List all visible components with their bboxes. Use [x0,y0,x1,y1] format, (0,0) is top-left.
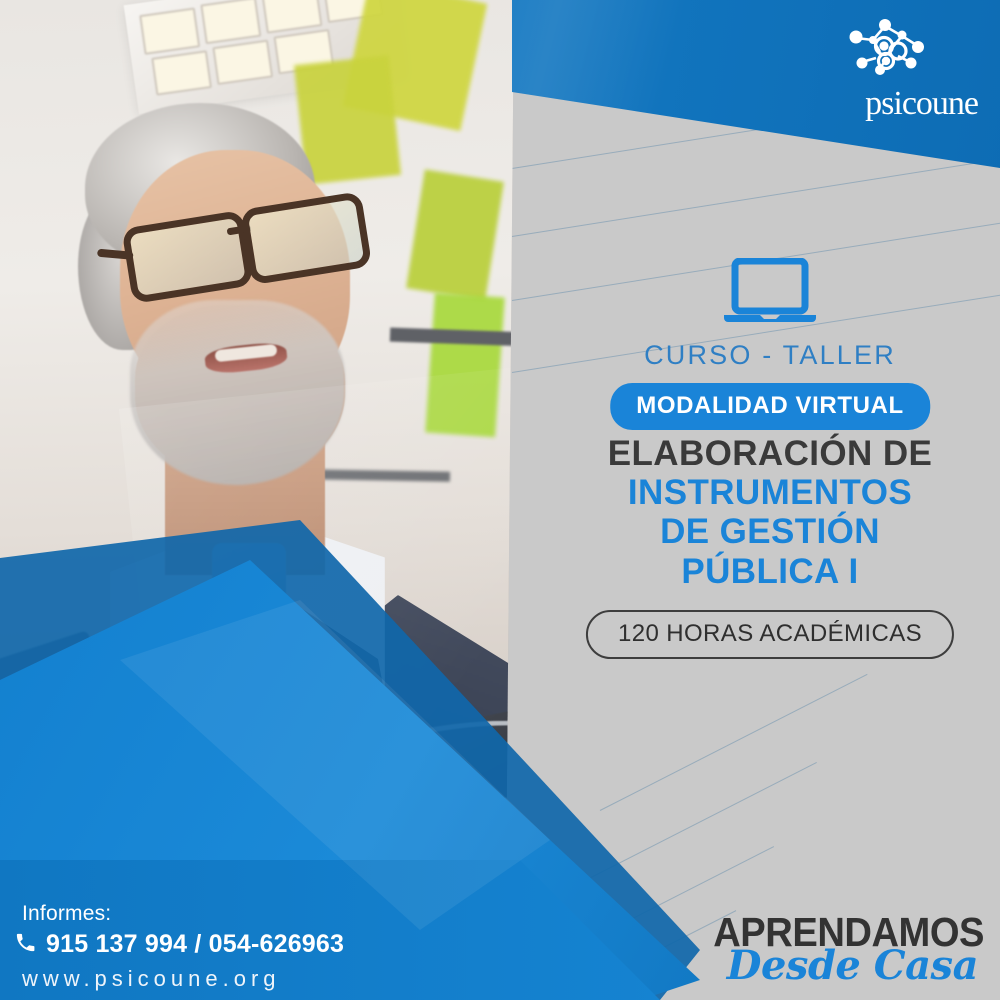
laptop-icon [722,258,818,329]
title-line-1: ELABORACIÓN DE [560,434,980,473]
course-info-column: CURSO - TALLER MODALIDAD VIRTUAL ELABORA… [560,0,980,1000]
slogan-line-1: APRENDAMOS [677,913,984,952]
course-title: ELABORACIÓN DE INSTRUMENTOS DE GESTIÓN P… [560,434,980,591]
website-url[interactable]: www.psicoune.org [22,966,281,992]
title-line-4: PÚBLICA I [560,552,980,591]
modality-badge: MODALIDAD VIRTUAL [610,383,930,430]
title-line-2: INSTRUMENTOS [560,473,980,512]
phone-icon [14,931,37,959]
title-line-3: DE GESTIÓN [560,512,980,551]
course-promo-poster: psicoune CURSO - TALLER MODALIDAD VIRTUA… [0,0,1000,1000]
hours-badge: 120 HORAS ACADÉMICAS [586,610,954,659]
course-kicker: CURSO - TALLER [560,340,980,371]
slogan: APRENDAMOS Desde Casa [654,913,984,986]
phone-numbers: 915 137 994 / 054-626963 [46,930,344,959]
phone-contact[interactable]: 915 137 994 / 054-626963 [14,930,344,959]
informes-label: Informes: [22,902,111,926]
